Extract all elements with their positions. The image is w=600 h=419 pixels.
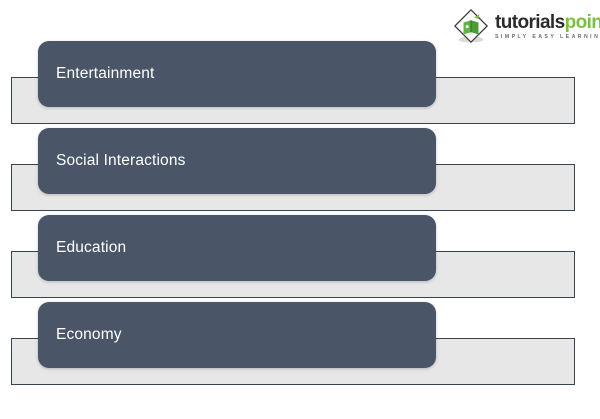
row-label: Education	[38, 239, 126, 257]
diagram-row: Education	[0, 211, 600, 299]
row-label: Economy	[38, 326, 122, 344]
row-banner[interactable]: Social Interactions	[38, 128, 436, 194]
row-banner[interactable]: Entertainment	[38, 41, 436, 107]
logo-word-accent: point	[565, 12, 600, 33]
diagram-canvas: tutorialspoint SIMPLY EASY LEARNING Ente…	[0, 0, 600, 419]
row-label: Social Interactions	[38, 152, 186, 170]
diagram-row: Social Interactions	[0, 124, 600, 212]
diagram-row: Entertainment	[0, 37, 600, 125]
row-label: Entertainment	[38, 65, 154, 83]
row-banner[interactable]: Economy	[38, 302, 436, 368]
diagram-row: Economy	[0, 298, 600, 386]
logo-word-primary: tutorials	[495, 12, 565, 33]
row-banner[interactable]: Education	[38, 215, 436, 281]
